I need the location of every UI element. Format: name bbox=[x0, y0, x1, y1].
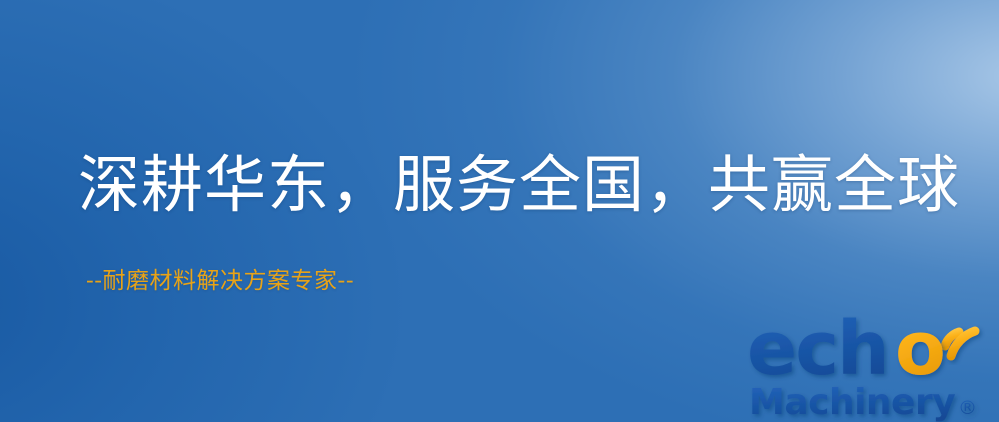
banner-subtitle: --耐磨材料解决方案专家-- bbox=[86, 268, 354, 296]
signal-arc-icon bbox=[945, 331, 975, 356]
logo-wordmark-o: o bbox=[895, 306, 946, 392]
promo-banner: 深耕华东，服务全国，共赢全球 --耐磨材料解决方案专家-- bbox=[0, 0, 999, 422]
logo-wordmark-ech: ech bbox=[747, 306, 888, 392]
logo-registered-mark: ® bbox=[958, 397, 977, 419]
logo-artwork: ech o Machinery ® bbox=[745, 298, 997, 422]
echo-machinery-logo: ech o Machinery ® bbox=[745, 298, 997, 422]
logo-tagline: Machinery bbox=[749, 382, 955, 422]
banner-headline: 深耕华东，服务全国，共赢全球 bbox=[78, 150, 960, 219]
